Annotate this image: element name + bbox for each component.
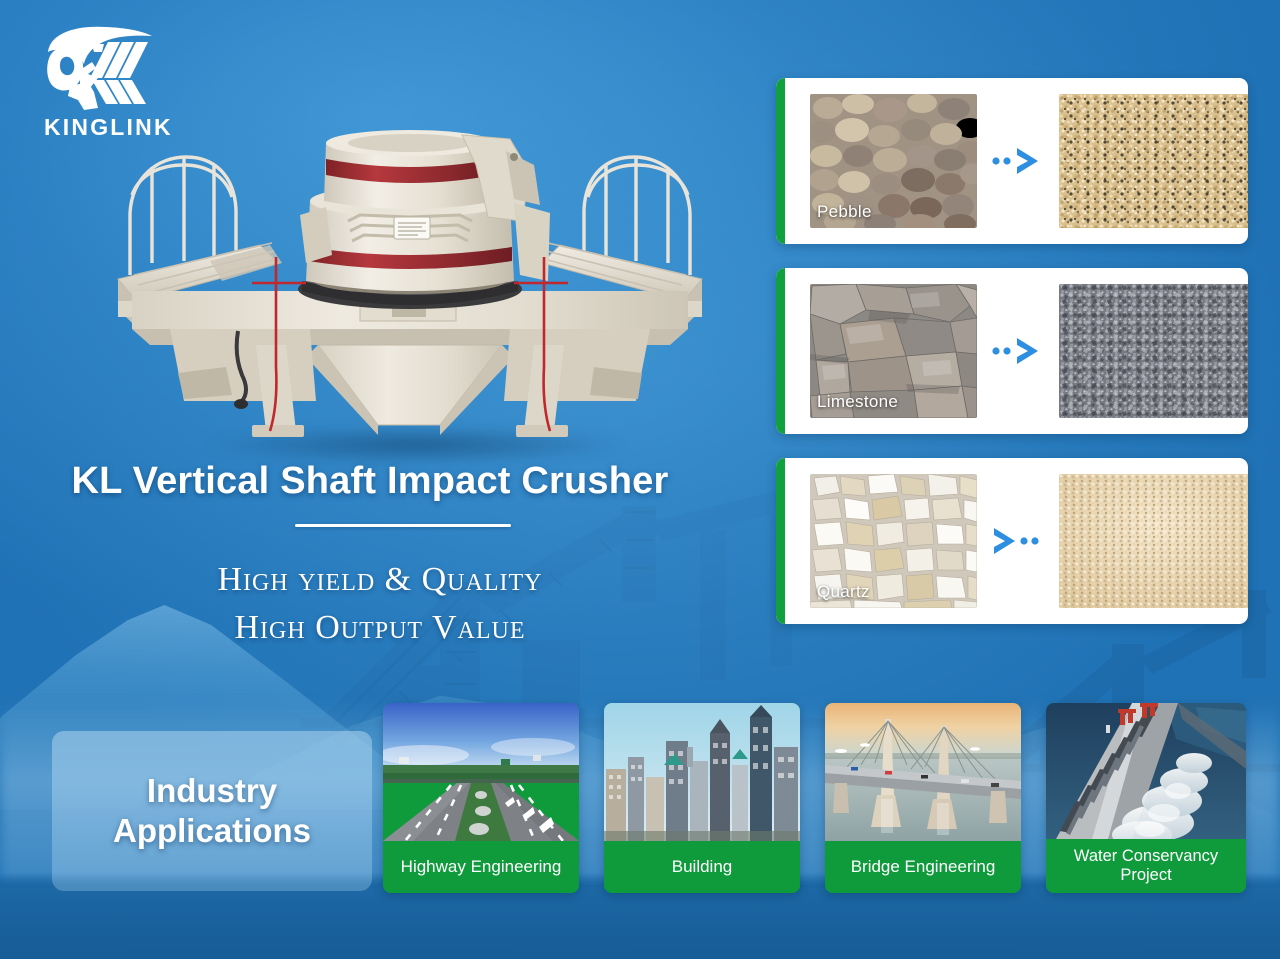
city-skyline-photo [604, 703, 800, 841]
material-label: Quartz [817, 582, 870, 602]
tagline-1: High yield & Quality [0, 556, 760, 604]
highway-road-photo [383, 703, 579, 841]
marketing-poster: KINGLINK [0, 0, 1280, 959]
application-caption: Water Conservancy Project [1046, 839, 1246, 893]
material-output-image [1059, 94, 1248, 228]
process-arrow [977, 146, 1057, 176]
material-card-limestone[interactable]: Limestone [776, 268, 1248, 434]
process-arrow [977, 526, 1057, 556]
application-thumbnail [383, 703, 579, 841]
application-caption: Bridge Engineering [825, 841, 1021, 893]
product-image [110, 95, 710, 455]
industry-applications-title: Industry Applications [113, 771, 311, 852]
application-card-water-conservancy[interactable]: Water Conservancy Project [1046, 703, 1246, 893]
apps-title-line2: Applications [113, 811, 311, 851]
dots-chevron-right-icon [990, 146, 1044, 176]
application-thumbnail [604, 703, 800, 841]
material-input-image: Pebble [810, 94, 977, 228]
chevron-right-dots-icon [990, 526, 1044, 556]
application-caption: Highway Engineering [383, 841, 579, 893]
material-card-list: Pebble [776, 78, 1248, 648]
page-title: KL Vertical Shaft Impact Crusher [0, 460, 740, 503]
application-card-highway[interactable]: Highway Engineering [383, 703, 579, 893]
dam-spillway-photo [1046, 703, 1246, 839]
apps-title-line1: Industry [113, 771, 311, 811]
material-input-image: Limestone [810, 284, 977, 418]
application-card-building[interactable]: Building [604, 703, 800, 893]
material-label: Pebble [817, 202, 872, 222]
gray-crushed-aggregate-photo [1059, 284, 1248, 418]
quartz-sand-photo [1059, 474, 1248, 608]
application-thumbnail [1046, 703, 1246, 839]
application-caption: Building [604, 841, 800, 893]
material-input-image: Quartz [810, 474, 977, 608]
material-card-pebble[interactable]: Pebble [776, 78, 1248, 244]
bottom-band [0, 887, 1280, 959]
card-accent-bar [776, 268, 785, 434]
dots-chevron-right-icon [990, 336, 1044, 366]
material-output-image [1059, 474, 1248, 608]
tagline-2: High Output Value [0, 604, 760, 652]
card-accent-bar [776, 458, 785, 624]
material-output-image [1059, 284, 1248, 418]
tagline-group: High yield & Quality High Output Value [0, 556, 760, 653]
material-card-quartz[interactable]: Quartz [776, 458, 1248, 624]
industry-applications-panel: Industry Applications [52, 731, 372, 891]
title-divider [295, 524, 511, 527]
material-label: Limestone [817, 392, 898, 412]
process-arrow [977, 336, 1057, 366]
application-thumbnail [825, 703, 1021, 841]
cable-stayed-bridge-photo [825, 703, 1021, 841]
yellow-sand-photo [1059, 94, 1248, 228]
application-card-bridge[interactable]: Bridge Engineering [825, 703, 1021, 893]
vsi-crusher-illustration [110, 95, 710, 455]
card-accent-bar [776, 78, 785, 244]
